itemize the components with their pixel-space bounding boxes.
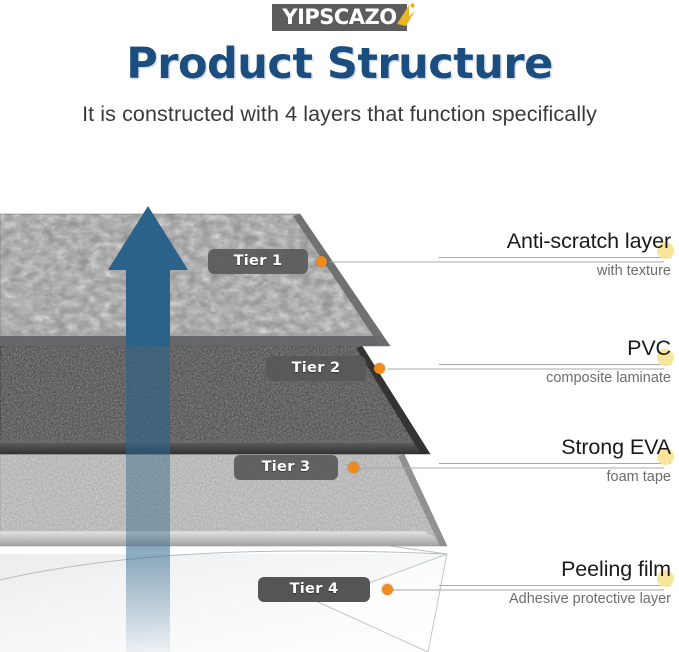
callout-title-wrap-1: Anti-scratch layer xyxy=(439,228,671,258)
brand-name: YIPSCAZO xyxy=(282,6,396,28)
tier-badge-2[interactable]: Tier 2 xyxy=(266,356,366,381)
callout-tier-3: Strong EVA foam tape xyxy=(439,434,671,487)
callout-subtitle-3: foam tape xyxy=(439,468,671,487)
tier-dot-3[interactable] xyxy=(348,462,359,473)
brand-logo: YIPSCAZO xyxy=(0,2,679,32)
tier-badge-3[interactable]: Tier 3 xyxy=(234,455,338,480)
layer-tier-1-antiscratch xyxy=(0,214,400,350)
callout-subtitle-4: Adhesive protective layer xyxy=(439,590,671,609)
tier-dot-2[interactable] xyxy=(374,363,385,374)
callout-title-2: PVC xyxy=(627,335,671,361)
callout-title-1: Anti-scratch layer xyxy=(507,228,671,254)
callout-tier-1: Anti-scratch layer with texture xyxy=(439,228,671,281)
callout-title-wrap-3: Strong EVA xyxy=(439,434,671,464)
layer-tier-4-film xyxy=(0,546,447,652)
callout-title-3: Strong EVA xyxy=(561,434,671,460)
page-subtitle: It is constructed with 4 layers that fun… xyxy=(0,100,679,128)
layer-tier-2-pvc xyxy=(0,346,440,458)
callout-title-4: Peeling film xyxy=(561,556,671,582)
product-structure-diagram: Tier 1 Tier 2 Tier 3 Tier 4 Anti-scratch… xyxy=(0,150,679,652)
tier-badge-4[interactable]: Tier 4 xyxy=(258,577,370,602)
page-title: Product Structure xyxy=(0,38,679,90)
callout-title-wrap-2: PVC xyxy=(439,335,671,365)
callout-tier-4: Peeling film Adhesive protective layer xyxy=(439,556,671,609)
callout-subtitle-1: with texture xyxy=(439,262,671,281)
tier-dot-1[interactable] xyxy=(316,256,327,267)
callout-subtitle-2: composite laminate xyxy=(439,369,671,388)
brand-logo-plate: YIPSCAZO xyxy=(272,4,406,31)
tier-badge-1[interactable]: Tier 1 xyxy=(208,249,308,274)
callout-title-wrap-4: Peeling film xyxy=(439,556,671,586)
callout-tier-2: PVC composite laminate xyxy=(439,335,671,388)
tier-dot-4[interactable] xyxy=(382,584,393,595)
